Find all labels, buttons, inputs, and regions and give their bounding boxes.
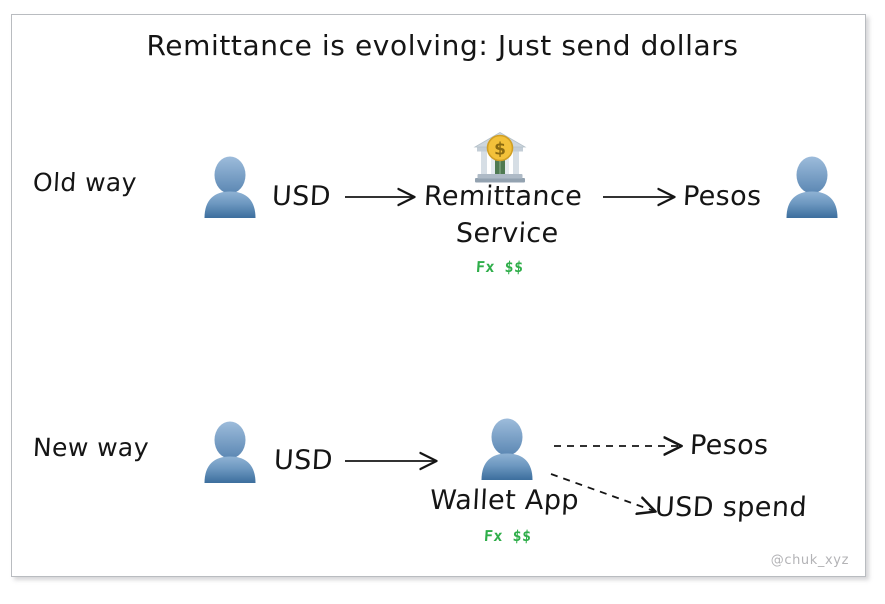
new-way-sender-person-bust-icon [205, 422, 256, 484]
old-way-output-label-pesos: Pesos [682, 181, 762, 212]
row-label-new-way: New way [32, 433, 149, 462]
remittance-service-label-line1: Remittance [423, 181, 583, 212]
wallet-app-label: Wallet App [429, 485, 580, 516]
new-way-output-label-usd-spend: USD spend [654, 492, 808, 523]
new-way-output-label-pesos: Pesos [689, 430, 769, 461]
remittance-service-label-line2: Service [455, 218, 559, 249]
old-way-fx-note: Fx $$ [475, 258, 524, 276]
old-way-receiver-person-bust-icon [787, 157, 838, 219]
svg-text:$: $ [494, 140, 506, 160]
new-way-flow-label-usd: USD [273, 445, 334, 476]
row-label-old-way: Old way [32, 168, 137, 197]
watermark: @chuk_xyz [771, 553, 849, 568]
wallet-app-person-bust-icon [482, 419, 533, 481]
new-way-fx-note: Fx $$ [483, 527, 532, 545]
bank-icon: $ [475, 133, 525, 183]
old-way-sender-person-bust-icon [205, 157, 256, 219]
diagram-canvas: Remittance is evolving: Just send dollar… [0, 0, 885, 604]
old-way-flow-label-usd: USD [271, 181, 332, 212]
